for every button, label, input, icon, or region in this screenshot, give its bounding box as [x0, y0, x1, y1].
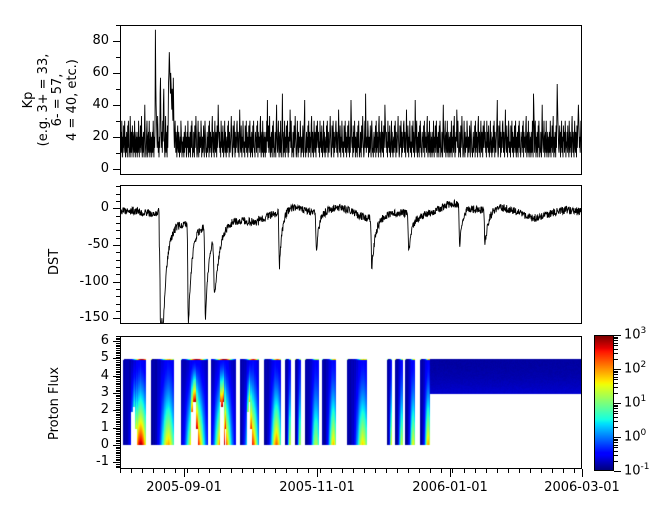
colorbar-minor-tick: [614, 340, 618, 341]
colorbar-minor-tick: [614, 372, 618, 373]
axis-tick: [116, 352, 120, 353]
axis-tick: [353, 469, 354, 473]
axis-tick: [116, 453, 120, 454]
axis-tick: [116, 462, 120, 463]
axis-tick: [116, 339, 120, 340]
axis-tick: [116, 358, 120, 359]
colorbar-tick-label: 102: [624, 361, 646, 375]
axis-tick-label: 80: [0, 34, 109, 47]
axis-tick: [574, 469, 575, 473]
colorbar-tick-label: 103: [624, 327, 646, 341]
axis-tick: [116, 400, 120, 401]
axis-tick: [131, 469, 132, 473]
axis-tick: [116, 336, 120, 337]
colorbar-tick-mantissa: 10: [624, 463, 641, 478]
axis-tick: [116, 448, 120, 449]
axis-tick: [116, 415, 120, 416]
axis-tick: [116, 428, 120, 429]
axis-tick: [116, 450, 120, 451]
colorbar-minor-tick: [614, 387, 618, 388]
axis-tick: [116, 419, 120, 420]
axis-tick: [116, 367, 120, 368]
colorbar-minor-tick: [614, 427, 618, 428]
axis-tick: [253, 469, 254, 473]
colorbar-gradient: [594, 335, 614, 471]
axis-tick: [116, 390, 120, 391]
axis-tick: [308, 469, 309, 473]
axis-tick-label: 3: [0, 386, 109, 399]
colorbar-major-tick: [614, 335, 621, 336]
axis-tick: [116, 384, 120, 385]
axis-tick: [116, 364, 120, 365]
axis-tick: [116, 467, 120, 468]
axis-tick: [116, 371, 120, 372]
axis-tick: [530, 469, 531, 473]
axis-tick: [116, 393, 120, 394]
axis-tick: [116, 407, 120, 408]
colorbar-minor-tick: [614, 421, 618, 422]
axis-tick: [116, 457, 120, 458]
colorbar-tick-label: 101: [624, 395, 646, 409]
colorbar-tick-exponent: 3: [641, 326, 647, 336]
axis-tick: [175, 469, 176, 473]
axis-tick: [116, 441, 120, 442]
axis-tick: [552, 469, 553, 473]
axis-tick-label: 1: [0, 421, 109, 434]
axis-tick: [116, 417, 120, 418]
colorbar-minor-tick: [614, 359, 618, 360]
colorbar-major-tick: [614, 437, 621, 438]
axis-tick: [116, 338, 120, 339]
colorbar-minor-tick: [614, 345, 618, 346]
axis-tick: [116, 377, 120, 378]
colorbar-tick-mantissa: 10: [624, 361, 641, 376]
axis-tick: [116, 405, 120, 406]
colorbar-minor-tick: [614, 383, 618, 384]
axis-tick: [397, 469, 398, 473]
x-axis-tick-label: 2005-11-01: [269, 481, 365, 494]
axis-tick: [116, 452, 120, 453]
colorbar-minor-tick: [614, 377, 618, 378]
axis-tick: [116, 431, 120, 432]
axis-tick: [475, 469, 476, 473]
axis-tick: [116, 343, 120, 344]
colorbar-minor-tick: [614, 374, 618, 375]
axis-tick-label: -50: [0, 238, 109, 251]
axis-tick: [220, 469, 221, 473]
colorbar-minor-tick: [614, 447, 618, 448]
axis-tick-label: 40: [0, 98, 109, 111]
axis-tick: [116, 445, 120, 446]
axis-tick: [116, 429, 120, 430]
axis-tick: [116, 374, 120, 375]
colorbar-minor-tick: [614, 379, 618, 380]
axis-tick: [184, 469, 185, 477]
colorbar-minor-tick: [614, 349, 618, 350]
axis-tick-label: 6: [0, 334, 109, 347]
colorbar-minor-tick: [614, 455, 618, 456]
axis-tick: [187, 469, 188, 473]
axis-tick: [375, 469, 376, 473]
axis-tick: [231, 469, 232, 473]
colorbar-tick-mantissa: 10: [624, 327, 641, 342]
axis-tick: [116, 433, 120, 434]
colorbar-minor-tick: [614, 445, 618, 446]
axis-tick-label: 2: [0, 403, 109, 416]
colorbar-minor-tick: [614, 371, 618, 372]
colorbar-minor-tick: [614, 343, 618, 344]
axis-tick-label: 20: [0, 130, 109, 143]
axis-tick: [116, 447, 120, 448]
axis-tick: [116, 372, 120, 373]
axis-tick: [116, 355, 120, 356]
colorbar-minor-tick: [614, 451, 618, 452]
axis-tick: [116, 357, 120, 358]
axis-tick: [486, 469, 487, 473]
axis-tick: [116, 460, 120, 461]
axis-tick: [541, 469, 542, 473]
axis-tick: [120, 469, 121, 473]
axis-tick: [464, 469, 465, 473]
axis-tick: [286, 469, 287, 473]
axis-tick: [116, 391, 120, 392]
axis-tick: [116, 436, 120, 437]
colorbar-minor-tick: [614, 353, 618, 354]
axis-tick-label: 0: [0, 438, 109, 451]
axis-tick: [116, 464, 120, 465]
axis-tick: [116, 424, 120, 425]
colorbar-minor-tick: [614, 461, 618, 462]
axis-tick: [364, 469, 365, 473]
axis-tick: [275, 469, 276, 473]
colorbar-major-tick: [614, 403, 621, 404]
axis-tick: [116, 402, 120, 403]
colorbar-tick-label: 100: [624, 429, 646, 443]
colorbar-minor-tick: [614, 413, 618, 414]
axis-tick: [116, 379, 120, 380]
axis-tick: [116, 403, 120, 404]
dst-series: [120, 185, 582, 324]
axis-tick: [519, 469, 520, 473]
axis-tick: [153, 469, 154, 473]
axis-tick: [116, 396, 120, 397]
x-axis-tick-label: 2006-03-01: [534, 481, 630, 494]
axis-tick: [116, 362, 120, 363]
axis-tick: [582, 469, 583, 477]
axis-tick: [242, 469, 243, 473]
axis-tick: [116, 455, 120, 456]
axis-tick: [430, 469, 431, 473]
colorbar-minor-tick: [614, 440, 618, 441]
axis-tick: [116, 434, 120, 435]
axis-tick: [116, 383, 120, 384]
axis-tick: [116, 421, 120, 422]
axis-tick: [317, 469, 318, 477]
axis-tick: [116, 353, 120, 354]
axis-tick: [116, 395, 120, 396]
axis-tick: [198, 469, 199, 473]
axis-tick-label: -100: [0, 275, 109, 288]
colorbar-minor-tick: [614, 439, 618, 440]
axis-tick: [342, 469, 343, 473]
axis-tick: [116, 350, 120, 351]
axis-tick: [116, 426, 120, 427]
axis-tick: [116, 365, 120, 366]
axis-tick: [116, 386, 120, 387]
axis-tick: [116, 459, 120, 460]
axis-tick: [116, 388, 120, 389]
axis-tick: [297, 469, 298, 473]
axis-tick-label: 5: [0, 351, 109, 364]
colorbar-tick-exponent: 2: [641, 360, 647, 370]
colorbar-minor-tick: [614, 408, 618, 409]
colorbar-tick-exponent: 0: [641, 428, 647, 438]
axis-tick: [497, 469, 498, 473]
axis-tick: [116, 360, 120, 361]
axis-tick-label: 60: [0, 66, 109, 79]
axis-tick: [408, 469, 409, 473]
axis-tick: [264, 469, 265, 473]
axis-tick: [419, 469, 420, 473]
axis-tick: [209, 469, 210, 473]
figure-canvas: Kp (e.g. 3+ = 33, 6- = 57, 4 = 40, etc.)…: [0, 0, 665, 523]
colorbar-minor-tick: [614, 411, 618, 412]
colorbar-minor-tick: [614, 406, 618, 407]
colorbar-minor-tick: [614, 417, 618, 418]
axis-tick: [116, 440, 120, 441]
colorbar-minor-tick: [614, 442, 618, 443]
colorbar-tick-mantissa: 10: [624, 395, 641, 410]
axis-tick-label: -150: [0, 311, 109, 324]
axis-tick: [116, 345, 120, 346]
axis-tick: [116, 398, 120, 399]
colorbar-minor-tick: [614, 393, 618, 394]
colorbar-major-tick: [614, 369, 621, 370]
colorbar-minor-tick: [614, 338, 618, 339]
axis-tick: [116, 381, 120, 382]
axis-tick: [508, 469, 509, 473]
proton-flux-spectrogram: [121, 337, 581, 468]
axis-tick: [331, 469, 332, 473]
axis-tick-label: 0: [0, 201, 109, 214]
axis-tick: [116, 376, 120, 377]
colorbar-minor-tick: [614, 337, 618, 338]
axis-tick: [142, 469, 143, 473]
colorbar-major-tick: [614, 471, 621, 472]
colorbar-tick-mantissa: 10: [624, 429, 641, 444]
colorbar-tick-exponent: -1: [641, 462, 650, 472]
axis-tick: [116, 414, 120, 415]
axis-tick: [164, 469, 165, 473]
axis-tick-label: 0: [0, 162, 109, 175]
axis-tick: [116, 369, 120, 370]
axis-tick: [563, 469, 564, 473]
axis-tick: [116, 346, 120, 347]
axis-tick: [116, 409, 120, 410]
axis-tick: [386, 469, 387, 473]
axis-tick: [116, 422, 120, 423]
axis-tick: [116, 341, 120, 342]
colorbar-tick-exponent: 1: [641, 394, 647, 404]
x-axis-tick-label: 2005-09-01: [136, 481, 232, 494]
axis-tick: [452, 469, 453, 473]
x-axis-tick-label: 2006-01-01: [402, 481, 498, 494]
axis-tick: [116, 348, 120, 349]
axis-tick: [441, 469, 442, 473]
axis-tick-label: -1: [0, 455, 109, 468]
axis-tick-label: 4: [0, 369, 109, 382]
dst-axis-label: DST: [48, 249, 62, 275]
axis-tick: [116, 443, 120, 444]
axis-tick: [320, 469, 321, 473]
kp-series: [120, 25, 582, 175]
colorbar-tick-label: 10-1: [624, 463, 650, 477]
axis-tick: [116, 466, 120, 467]
axis-tick: [116, 438, 120, 439]
axis-tick: [116, 412, 120, 413]
colorbar-minor-tick: [614, 405, 618, 406]
axis-tick: [116, 410, 120, 411]
